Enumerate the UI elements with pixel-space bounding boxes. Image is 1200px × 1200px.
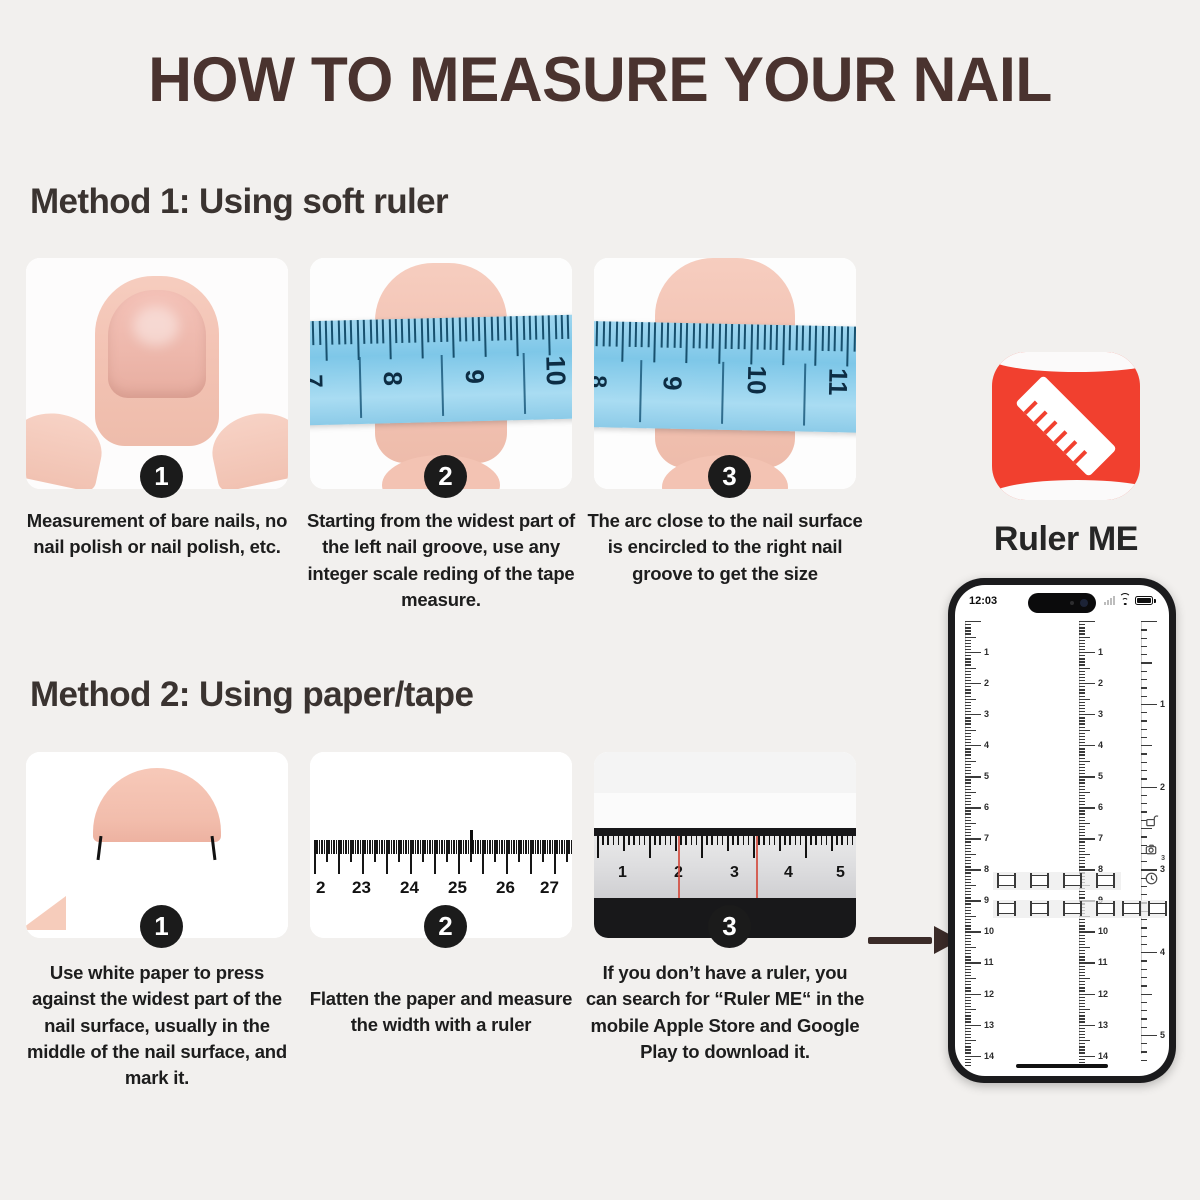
ruler-tick-label: 10	[1098, 926, 1108, 936]
ruler-tick-label: 13	[1098, 1020, 1108, 1030]
ruler-tick-label: 7	[1098, 833, 1103, 843]
ruler-glyph	[1015, 375, 1117, 477]
status-bar-indicators	[1104, 596, 1156, 605]
infographic-page: HOW TO MEASURE YOUR NAIL Method 1: Using…	[0, 0, 1200, 1200]
ruler-tick-label: 5	[984, 771, 989, 781]
phone-mockup: 12:03 1234567891011121314 12345678910111…	[948, 578, 1176, 1083]
ruler-tick-label: 4	[1098, 740, 1103, 750]
ruler-tick-label: 14	[1098, 1051, 1108, 1061]
ruler-tick-label: 3	[984, 709, 989, 719]
ruler-tick-label: 5	[1160, 1030, 1165, 1040]
step-caption-m2-3: If you don’t have a ruler, you can searc…	[585, 960, 865, 1065]
ruler-tick-label: 3	[1098, 709, 1103, 719]
camera-count-label: 3	[1161, 855, 1165, 862]
ruler-tick-label: 5	[1098, 771, 1103, 781]
signal-icon	[1104, 596, 1115, 605]
ruler-tick-label: 4	[984, 740, 989, 750]
ruler-tick-label: 2	[1098, 678, 1103, 688]
step-badge-m1-1: 1	[140, 455, 183, 498]
step-caption-m1-1: Measurement of bare nails, no nail polis…	[17, 508, 297, 561]
method-2-heading: Method 2: Using paper/tape	[30, 675, 473, 715]
ruler-app-icon[interactable]	[992, 352, 1140, 500]
unlock-icon[interactable]	[1144, 813, 1159, 828]
step-caption-m1-2: Starting from the widest part of the lef…	[301, 508, 581, 613]
ruler-tick-label: 13	[984, 1020, 994, 1030]
ruler-tick-label: 12	[1098, 989, 1108, 999]
battery-icon	[1135, 596, 1156, 605]
step-badge-m1-2: 2	[424, 455, 467, 498]
ruler-tick-label: 9	[984, 895, 989, 905]
phone-screen[interactable]: 12:03 1234567891011121314 12345678910111…	[955, 585, 1169, 1076]
camera-icon[interactable]: 3	[1144, 842, 1159, 857]
tape-measure-strip: 8 9 10 11	[594, 321, 856, 433]
wifi-icon	[1119, 596, 1131, 605]
step-caption-m2-2: Flatten the paper and measure the width …	[301, 986, 581, 1039]
ruler-tick-label: 11	[984, 957, 994, 967]
ruler-tick-label: 1	[984, 647, 989, 657]
right-arrow-icon	[868, 925, 960, 955]
measurement-row	[993, 872, 1121, 890]
step-badge-m2-2: 2	[424, 905, 467, 948]
method-1-heading: Method 1: Using soft ruler	[30, 182, 448, 222]
ruler-tick-label: 14	[984, 1051, 994, 1061]
status-bar-time: 12:03	[969, 595, 997, 607]
history-icon[interactable]	[1144, 871, 1159, 886]
ruler-tick-label: 1	[1098, 647, 1103, 657]
ruler-tick-label: 2	[984, 678, 989, 688]
home-indicator	[1016, 1064, 1108, 1068]
ruler-tick-label: 8	[984, 864, 989, 874]
measurement-row	[993, 900, 1165, 918]
ruler-tick-label: 1	[1160, 699, 1165, 709]
page-title: HOW TO MEASURE YOUR NAIL	[24, 44, 1176, 116]
tape-measure-strip: 7 8 9 10	[310, 314, 572, 425]
ruler-tick-label: 7	[984, 833, 989, 843]
app-name-label: Ruler ME	[940, 520, 1192, 559]
ruler-tick-label: 6	[1098, 802, 1103, 812]
step-badge-m2-1: 1	[140, 905, 183, 948]
step-badge-m2-3: 3	[708, 905, 751, 948]
phone-tool-icons[interactable]: 3	[1144, 813, 1159, 886]
dynamic-island	[1028, 593, 1096, 613]
ruler-tick-label: 10	[984, 926, 994, 936]
ruler-tick-label: 12	[984, 989, 994, 999]
step-badge-m1-3: 3	[708, 455, 751, 498]
ruler-tick-label: 4	[1160, 947, 1165, 957]
ruler-tick-label: 6	[984, 802, 989, 812]
ruler-tick-label: 11	[1098, 957, 1108, 967]
step-caption-m2-1: Use white paper to press against the wid…	[17, 960, 297, 1091]
ruler-tick-label: 2	[1160, 782, 1165, 792]
ruler-tick-label: 3	[1160, 864, 1165, 874]
step-caption-m1-3: The arc close to the nail surface is enc…	[585, 508, 865, 587]
